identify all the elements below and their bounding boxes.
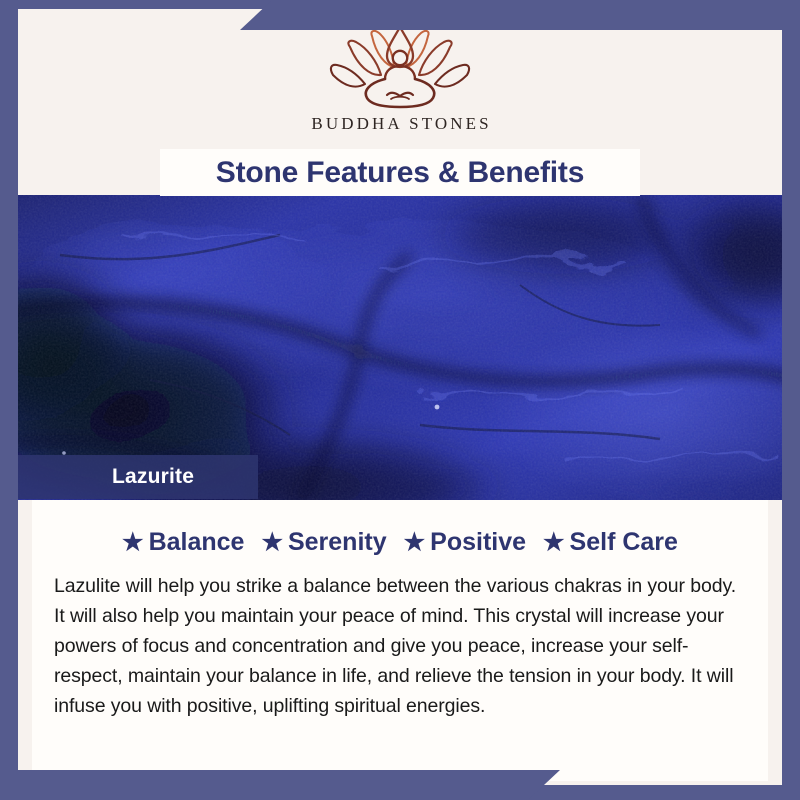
benefit-label: Balance [149,528,245,557]
benefit-item-positive: ★ Positive [404,528,526,557]
benefit-item-self-care: ★ Self Care [543,528,678,557]
benefit-item-serenity: ★ Serenity [261,528,386,557]
lotus-meditation-icon [325,23,475,109]
benefit-label: Serenity [288,528,387,557]
poster-root: BUDDHA STONES [0,0,800,800]
inner-panel: BUDDHA STONES [18,9,782,785]
stone-name: Lazurite [112,465,194,489]
page-title: Stone Features & Benefits [216,156,584,190]
content-card: ★ Balance ★ Serenity ★ Positive ★ Self C… [32,500,768,781]
benefit-label: Positive [430,528,526,557]
decor-diagonal-bottom [0,770,560,800]
star-icon: ★ [404,531,426,555]
benefits-list: ★ Balance ★ Serenity ★ Positive ★ Self C… [32,528,768,557]
star-icon: ★ [543,531,565,555]
stone-name-banner: Lazurite [18,455,258,499]
star-icon: ★ [122,531,144,555]
star-icon: ★ [261,531,283,555]
brand-logo: BUDDHA STONES [18,23,782,134]
title-band: Stone Features & Benefits [160,149,640,196]
benefit-item-balance: ★ Balance [122,528,244,557]
stone-description: Lazulite will help you strike a balance … [54,571,746,721]
decor-diagonal-top [240,0,800,30]
benefit-label: Self Care [570,528,678,557]
brand-name: BUDDHA STONES [308,114,491,134]
